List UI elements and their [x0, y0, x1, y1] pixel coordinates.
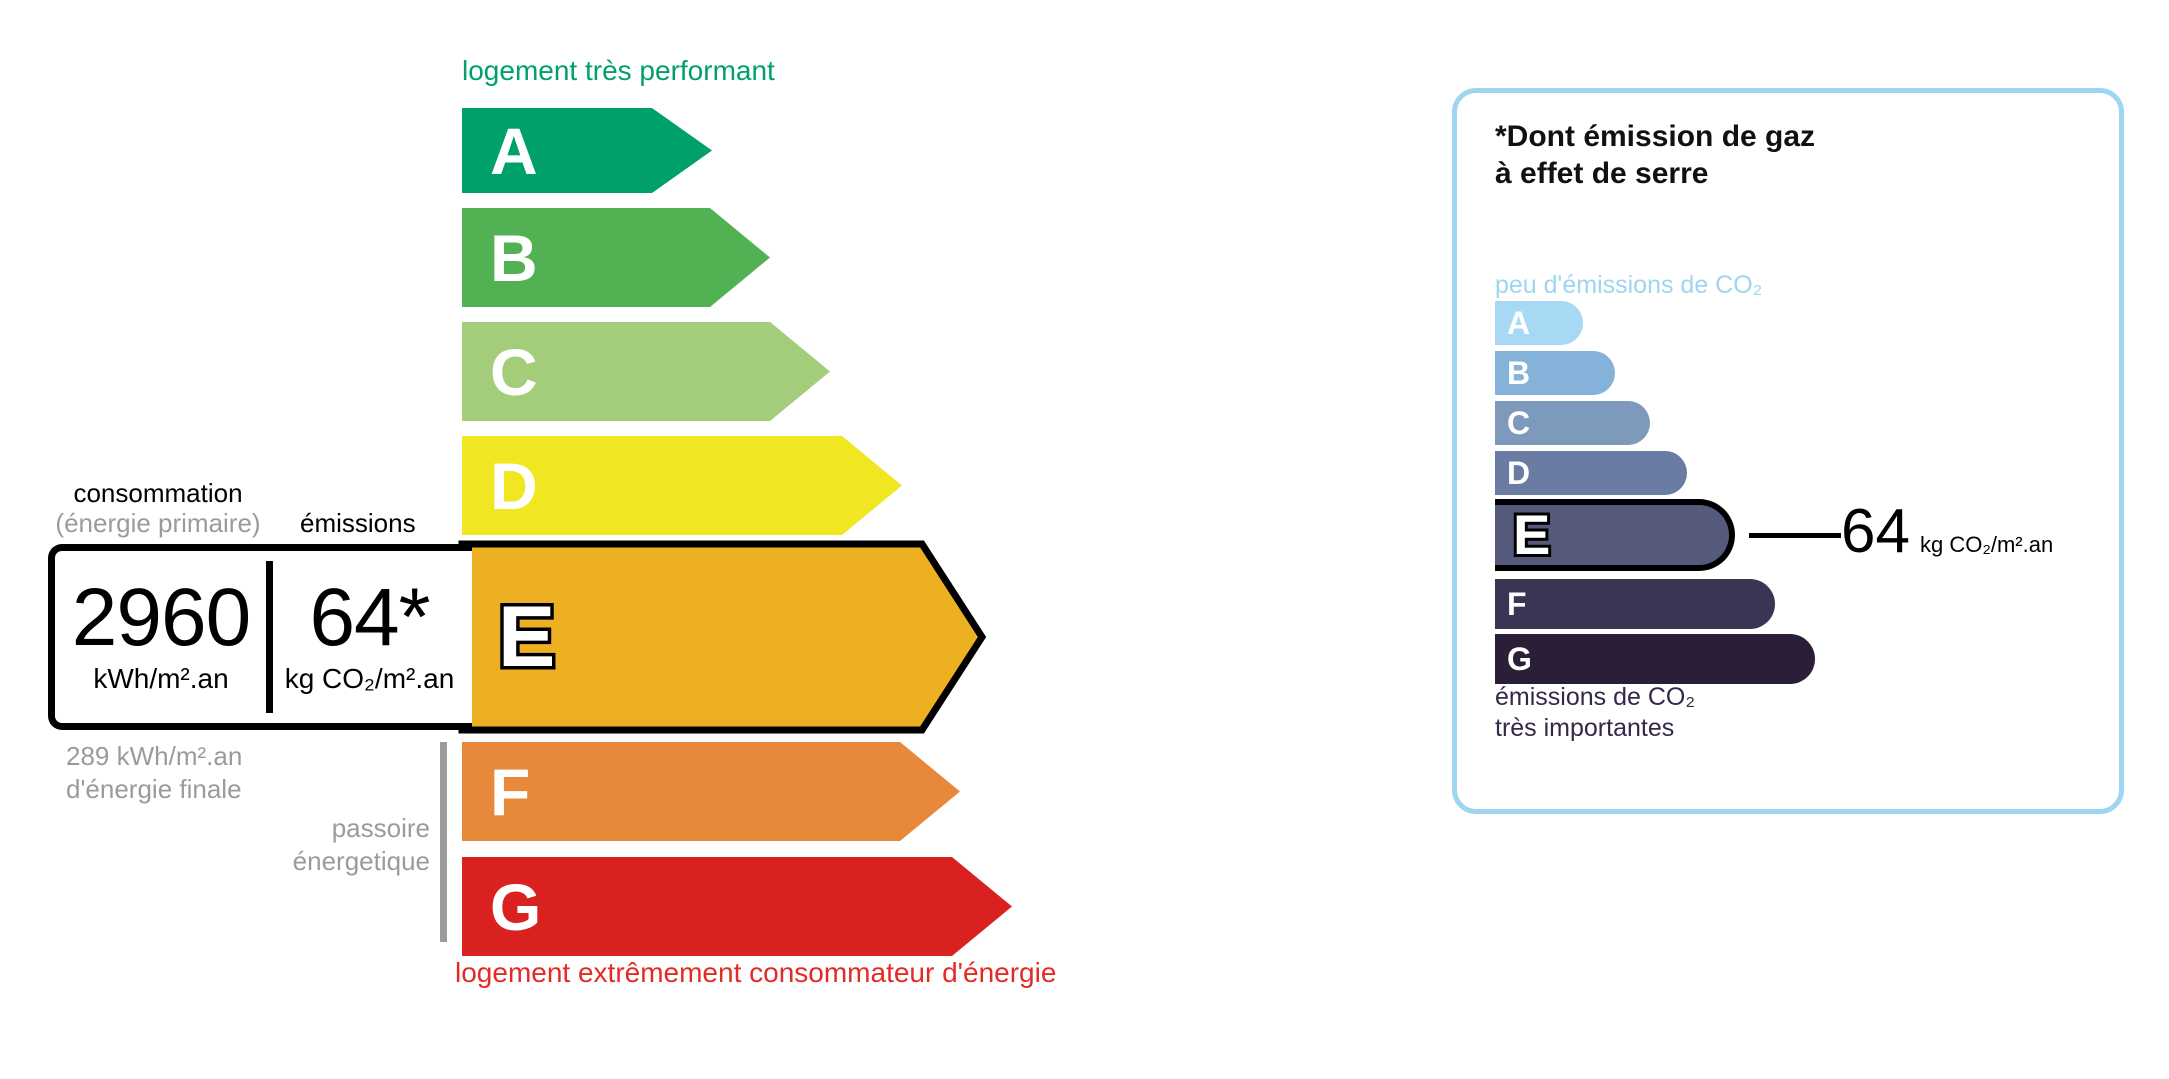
energy-scale-bottom-caption: logement extrêmement consommateur d'éner…: [455, 957, 1056, 989]
co2-class-letter-d: D: [1507, 457, 1530, 489]
co2-class-e: E: [1495, 499, 1735, 571]
co2-bar-scale: ABCDEFG: [1495, 301, 2115, 681]
passoire-line1: passoire: [240, 812, 430, 845]
co2-scale-bottom-caption: émissions de CO₂ très importantes: [1495, 682, 1695, 743]
passoire-line2: énergetique: [240, 845, 430, 878]
co2-callout: 64 kg CO₂/m².an: [1841, 501, 2053, 563]
co2-bar-g: [1495, 634, 1815, 684]
energie-finale-line1: 289 kWh/m².an: [66, 740, 242, 773]
co2-class-b: B: [1495, 351, 1615, 395]
co2-callout-leader-line: [1749, 533, 1841, 538]
consumption-unit: kWh/m².an: [93, 663, 228, 695]
co2-bottom-line2: très importantes: [1495, 713, 1695, 744]
co2-class-letter-b: B: [1507, 357, 1530, 389]
co2-bar-f: [1495, 579, 1775, 629]
co2-callout-value: 64: [1841, 501, 1910, 563]
co2-title-line2: à effet de serre: [1495, 156, 1815, 193]
energy-class-a: A: [462, 108, 712, 193]
co2-class-d: D: [1495, 451, 1687, 495]
co2-scale-top-caption: peu d'émissions de CO₂: [1495, 271, 1762, 300]
co2-class-a: A: [1495, 301, 1583, 345]
energy-class-d: D: [462, 436, 902, 535]
energy-class-b: B: [462, 208, 770, 307]
co2-emission-panel: *Dont émission de gaz à effet de serre p…: [1452, 88, 2124, 814]
co2-class-letter-e: E: [1513, 507, 1550, 563]
co2-class-letter-a: A: [1507, 307, 1530, 339]
co2-class-g: G: [1495, 634, 1815, 684]
consumption-value-group: 2960 kWh/m².an: [55, 551, 267, 723]
energy-arrow-scale: A B C D E F G: [0, 0, 1380, 1079]
co2-class-letter-c: C: [1507, 407, 1530, 439]
passoire-indicator-bar: [440, 742, 447, 942]
energy-class-e: E: [462, 544, 982, 730]
co2-panel-title: *Dont émission de gaz à effet de serre: [1495, 119, 1815, 192]
co2-class-f: F: [1495, 579, 1775, 629]
energie-finale-label: 289 kWh/m².an d'énergie finale: [66, 740, 242, 807]
energy-class-g: G: [462, 857, 1012, 956]
emission-value-group: 64* kg CO₂/m².an: [267, 551, 472, 723]
consommation-label: consommation: [48, 478, 268, 509]
energie-primaire-label: (énergie primaire): [40, 508, 276, 539]
energy-class-f: F: [462, 742, 960, 841]
co2-title-line1: *Dont émission de gaz: [1495, 119, 1815, 156]
co2-class-letter-g: G: [1507, 643, 1532, 675]
energy-class-c: C: [462, 322, 830, 421]
co2-class-letter-f: F: [1507, 588, 1527, 620]
co2-class-c: C: [1495, 401, 1650, 445]
co2-bottom-line1: émissions de CO₂: [1495, 682, 1695, 713]
emission-value: 64*: [309, 579, 429, 657]
passoire-energetique-label: passoire énergetique: [240, 812, 430, 879]
energy-consumption-section: logement très performant A B C D E F G l…: [0, 0, 1380, 1079]
consumption-value: 2960: [72, 579, 250, 657]
energie-finale-line2: d'énergie finale: [66, 773, 242, 806]
co2-callout-unit: kg CO₂/m².an: [1920, 532, 2053, 558]
emissions-label: émissions: [300, 508, 416, 539]
dpe-value-box: 2960 kWh/m².an 64* kg CO₂/m².an: [48, 544, 472, 730]
emission-unit: kg CO₂/m².an: [285, 663, 455, 695]
